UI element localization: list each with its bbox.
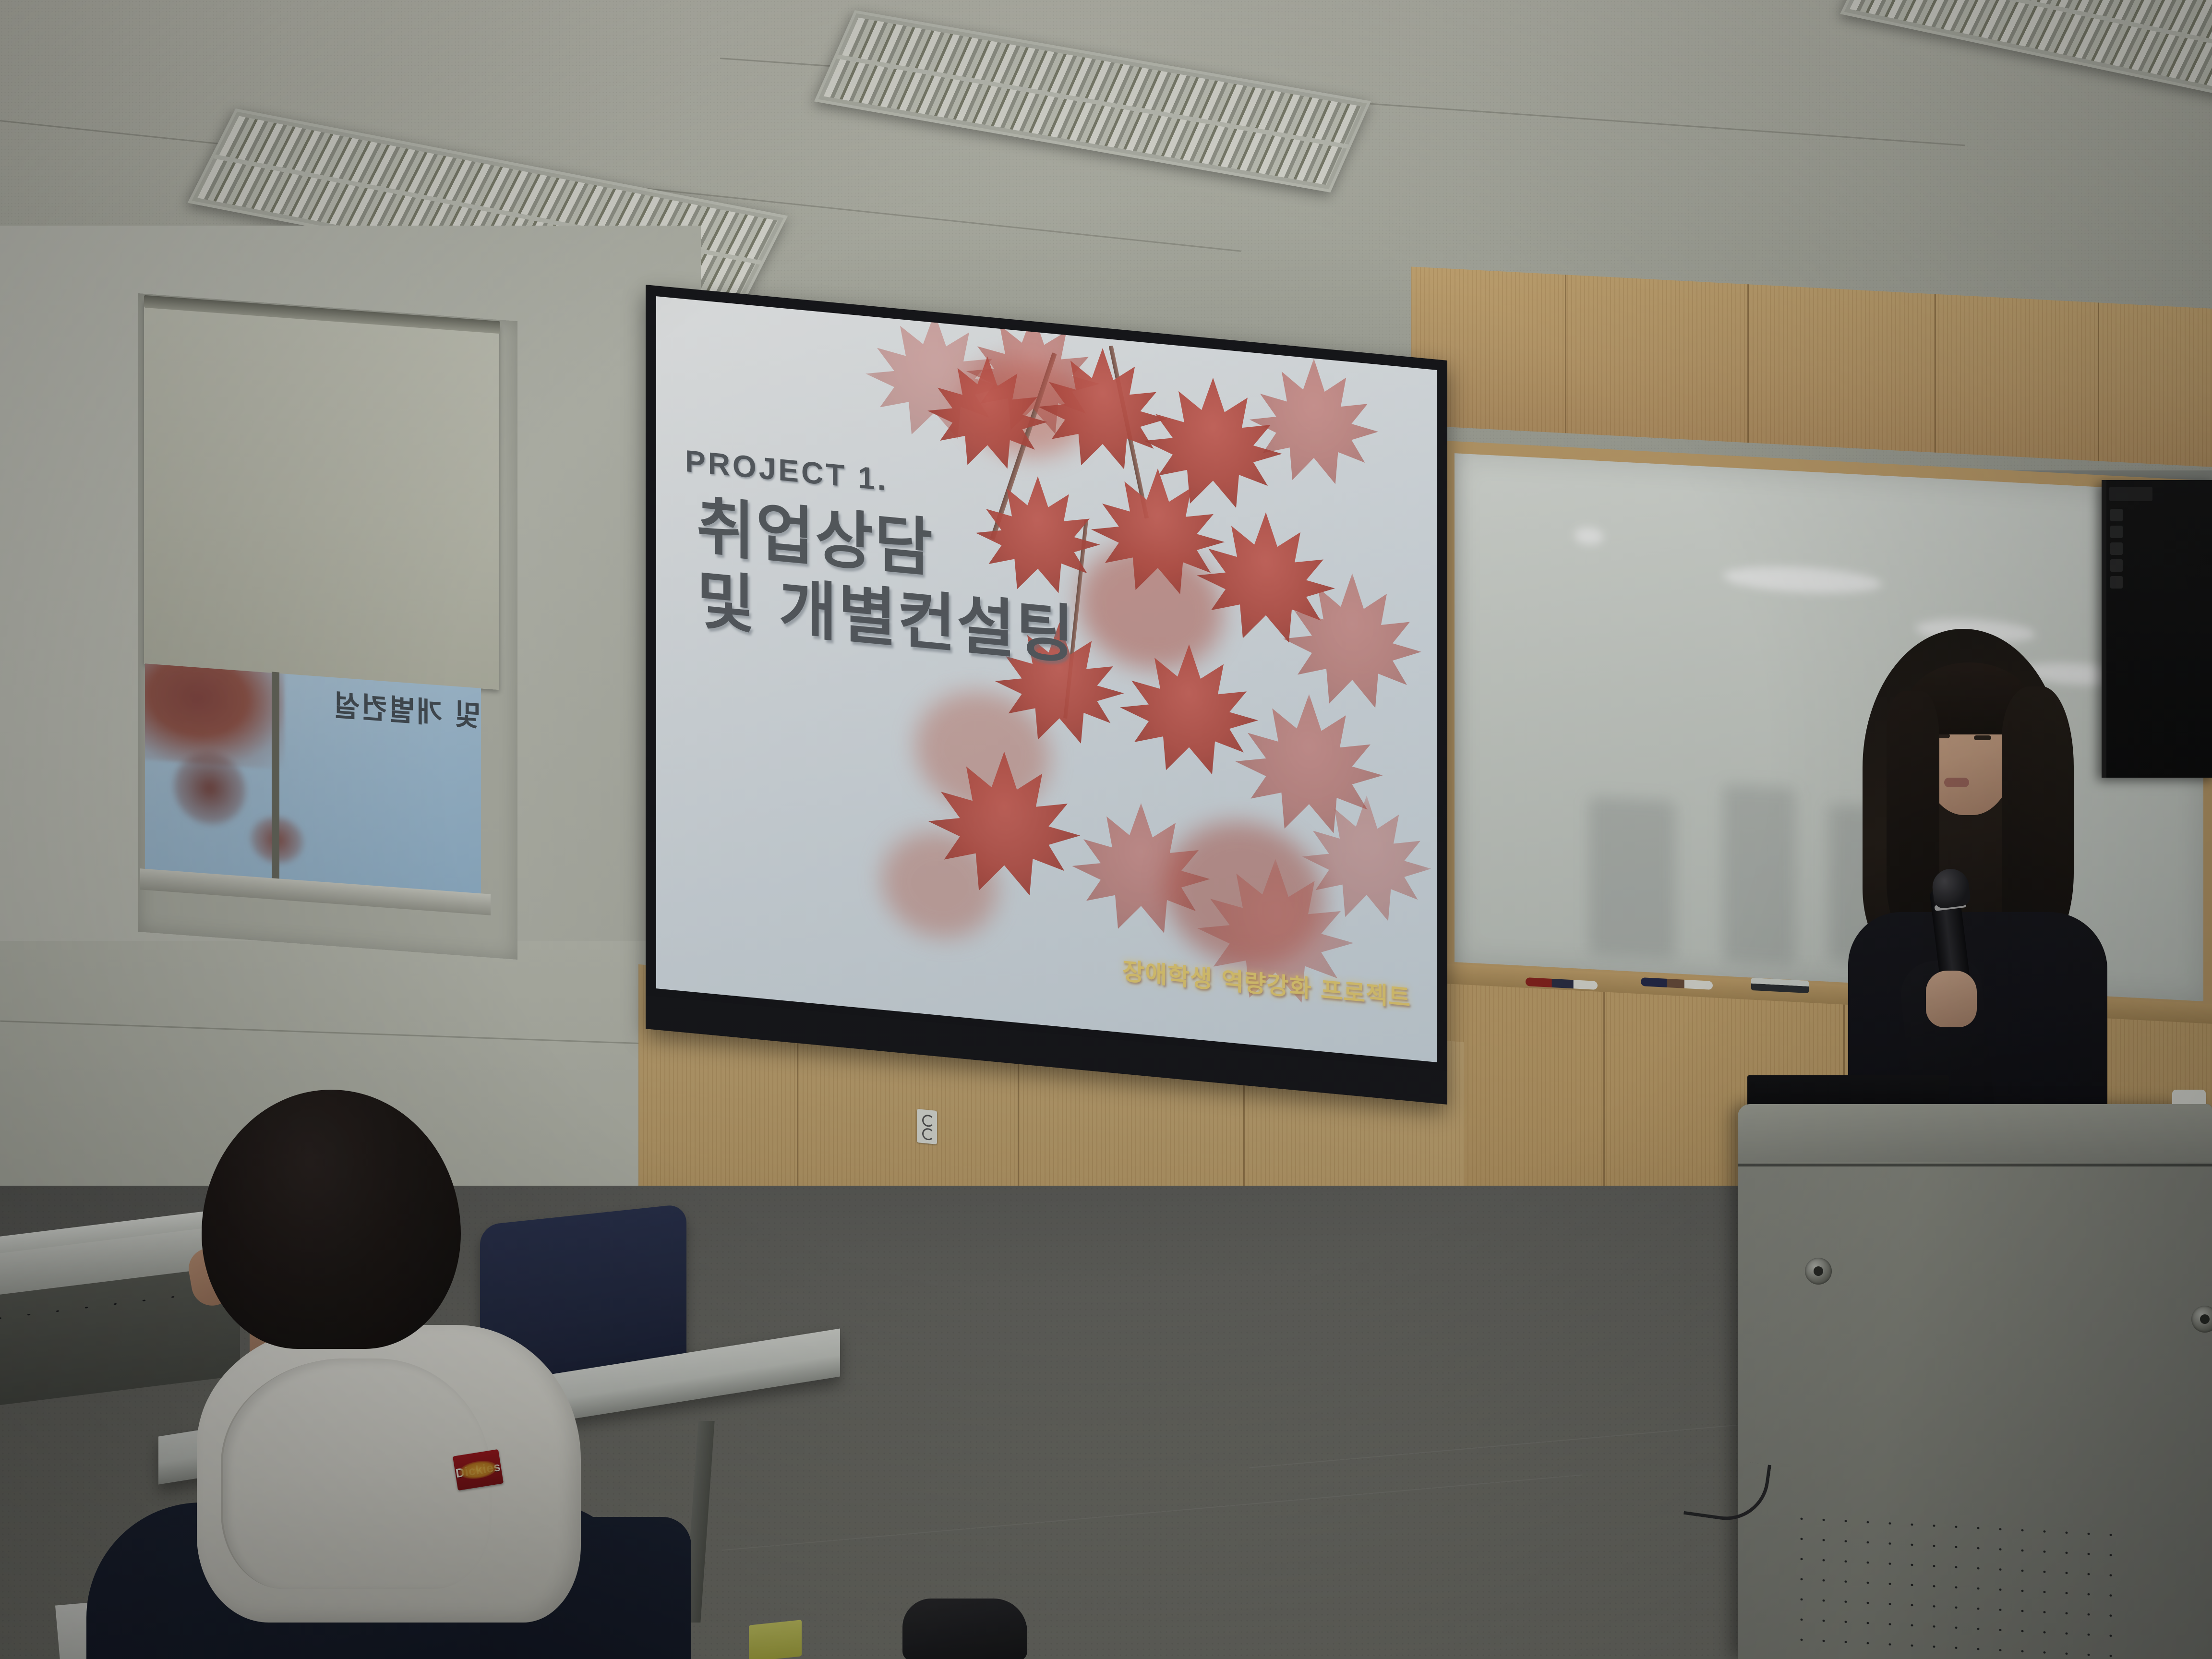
dickies-brand-label: Dickies: [453, 1449, 504, 1491]
podium-lock[interactable]: [1805, 1258, 1832, 1285]
monitor-button[interactable]: [2110, 559, 2123, 572]
student-hood-fold: [221, 1358, 492, 1589]
monitor-button[interactable]: [2110, 509, 2123, 521]
leaf: [1247, 352, 1381, 499]
monitor-button[interactable]: [2110, 526, 2123, 538]
podium-vent-holes: [1791, 1508, 2127, 1659]
monitor-button[interactable]: [2110, 542, 2123, 555]
slide-text-block: PROJECT 1. 취업상담 및 개별컨설팅: [685, 443, 1117, 677]
wall-power-outlet[interactable]: [917, 1109, 937, 1144]
projected-slide: PROJECT 1. 취업상담 및 개별컨설팅 장애학생 역량강화 프로젝트: [656, 296, 1437, 1062]
dickies-label-text: Dickies: [455, 1459, 502, 1480]
window-glass: 및 개별컨설: [145, 663, 481, 894]
student-hair: [202, 1090, 461, 1349]
classroom-scene: 및 개별컨설: [0, 0, 2212, 1659]
floor-sign: [749, 1620, 802, 1659]
podium[interactable]: [1738, 1104, 2212, 1659]
presenter-hand: [1926, 971, 1977, 1027]
monitor-button[interactable]: [2110, 576, 2123, 589]
window-roller-blind[interactable]: [144, 299, 499, 690]
projection-screen: PROJECT 1. 취업상담 및 개별컨설팅 장애학생 역량강화 프로젝트: [646, 285, 1447, 1105]
monitor-button-row[interactable]: [2110, 509, 2123, 593]
window-mullion: [272, 672, 279, 888]
presenter-mouth: [1944, 778, 1969, 787]
monitor-brand-plate: [2109, 487, 2152, 501]
seated-student: Dickies: [144, 1090, 696, 1659]
floor-bag[interactable]: [902, 1599, 1027, 1659]
presenter: [1795, 614, 2131, 1152]
podium-top-surface[interactable]: [1738, 1104, 2212, 1162]
podium-lock[interactable]: [2191, 1306, 2212, 1333]
podium-seam: [1738, 1164, 2212, 1166]
presenter-eye: [1974, 735, 1991, 740]
podium-cable: [1683, 1454, 1771, 1526]
